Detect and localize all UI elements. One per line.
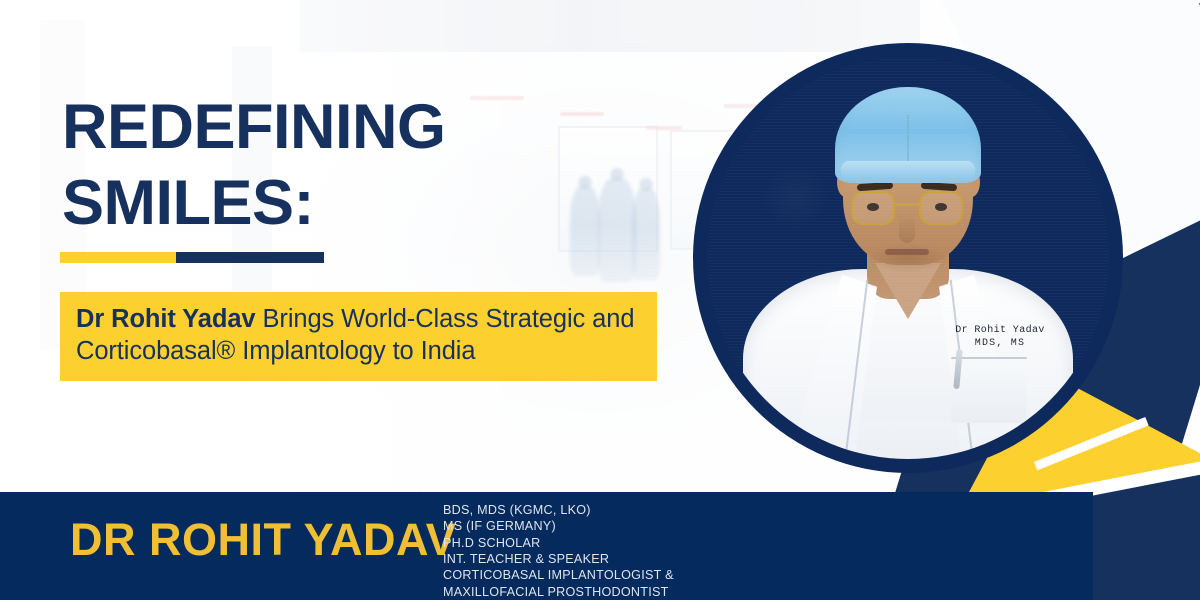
pen-icon [953,349,962,389]
coat-lapel-edge-left [844,280,869,459]
coat-lapel-edge-right [950,280,975,459]
portrait-circle-ring: Dr Rohit Yadav MDS, MS [693,43,1123,473]
ear-right [963,167,980,197]
coat-embroidery-degrees: MDS, MS [945,338,1055,351]
surgical-cap-band [841,161,975,179]
inner-shirt [859,271,957,421]
chin-shadow [867,243,949,273]
footer-doctor-name: DR ROHIT YADAV [70,517,456,562]
coat-embroidery: Dr Rohit Yadav MDS, MS [945,325,1055,350]
eye-right [935,203,947,211]
face [843,105,973,265]
credential-line: PH.D SCHOLAR [443,535,674,551]
footer-credentials: BDS, MDS (KGMC, LKO)MS (IF GERMANY)PH.D … [443,502,674,600]
headline-line-2: SMILES: [62,172,446,234]
headline-line-1: REDEFINING [62,92,446,162]
credential-line: MS (IF GERMANY) [443,518,674,534]
surgical-cap [835,87,981,183]
mouth [885,249,929,255]
accent-rule-navy [176,252,324,263]
lab-coat [743,269,1073,459]
eyeglasses-lens-left [851,191,895,225]
nose [899,213,915,243]
eyebrow-left [857,182,893,191]
coat-embroidery-name: Dr Rohit Yadav [945,325,1055,338]
coat-lapel-right [939,275,1031,459]
subtitle-doctor-name: Dr Rohit Yadav [76,305,256,333]
eyeglasses-lens-right [919,191,963,225]
eyebrow-right [921,182,957,191]
neck [867,207,949,299]
credential-line: BDS, MDS (KGMC, LKO) [443,502,674,518]
page-title: REDEFINING SMILES: [62,96,446,235]
doctor-portrait: Dr Rohit Yadav MDS, MS [707,57,1109,459]
credential-line: INT. TEACHER & SPEAKER [443,551,674,567]
v-neck-opening [875,263,941,319]
eyeglasses-bridge [895,203,919,206]
coat-pocket [951,357,1027,423]
subtitle-highlight-box: Dr Rohit Yadav Brings World-Class Strate… [60,292,657,381]
eye-left [867,203,879,211]
portrait-circle: Dr Rohit Yadav MDS, MS [707,57,1109,459]
promotional-banner: Dr Rohit Yadav MDS, MS REDEFINING SMILES… [0,0,1200,600]
coat-lapel-left [785,275,877,459]
ear-left [837,167,854,197]
credential-line: CORTICOBASAL IMPLANTOLOGIST & [443,567,674,583]
accent-rule-yellow [60,252,176,263]
credential-line: MAXILLOFACIAL PROSTHODONTIST [443,584,674,600]
